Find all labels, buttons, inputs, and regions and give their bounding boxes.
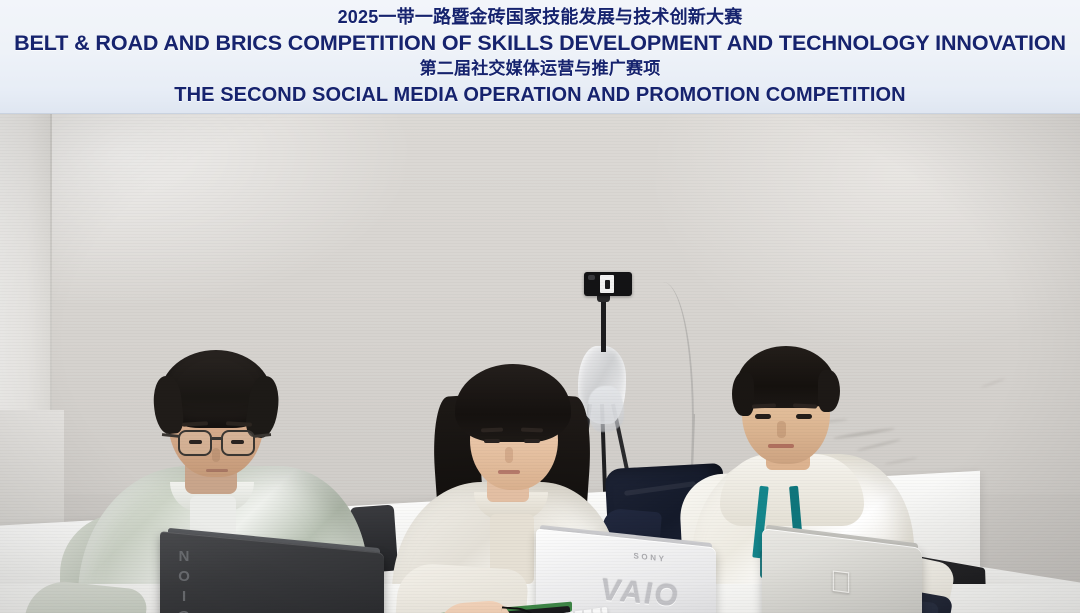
person-middle-mouth (498, 470, 520, 474)
left-wall-panel-lower (0, 410, 64, 530)
tripod-plastic-wrap (588, 386, 624, 432)
person-left-nose (212, 448, 220, 462)
competition-banner: 2025一带一路暨金砖国家技能发展与技术创新大赛 BELT & ROAD AND… (0, 0, 1080, 114)
glasses-bridge (212, 437, 221, 440)
person-right-hair-side (818, 370, 840, 412)
person-right-eye (755, 414, 771, 419)
banner-subtitle-chinese: 第二届社交媒体运营与推广赛项 (420, 57, 661, 81)
smartphone-screen-detail (605, 280, 610, 289)
banner-title-chinese-primary: 2025一带一路暨金砖国家技能发展与技术创新大赛 (338, 5, 743, 29)
banner-title-english-primary: BELT & ROAD AND BRICS COMPETITION OF SKI… (14, 30, 1066, 56)
banner-subtitle-english: THE SECOND SOCIAL MEDIA OPERATION AND PR… (174, 82, 905, 108)
person-right-hair-side (732, 372, 754, 416)
screenshot-root: 2025一带一路暨金砖国家技能发展与技术创新大赛 BELT & ROAD AND… (0, 0, 1080, 613)
tripod-post (601, 300, 606, 352)
legion-brand-label: LEGION (176, 560, 192, 613)
person-right-nose (777, 421, 786, 438)
person-left-mouth (206, 469, 228, 472)
person-middle-eye (484, 439, 500, 443)
left-wall-panel (0, 114, 52, 414)
person-right-mouth (768, 444, 794, 448)
person-right-eye (796, 414, 812, 419)
person-middle-nose (505, 447, 513, 463)
competition-photo: LAPTOP  SONY VAIO LEGION (0, 114, 1080, 613)
person-left-eye (231, 440, 244, 444)
person-middle-eyebrow (521, 428, 543, 432)
person-left-eye (189, 440, 202, 444)
apple-logo-icon:  (826, 564, 856, 602)
person-middle-eye (524, 439, 540, 443)
smartphone-lens-icon (588, 275, 595, 280)
